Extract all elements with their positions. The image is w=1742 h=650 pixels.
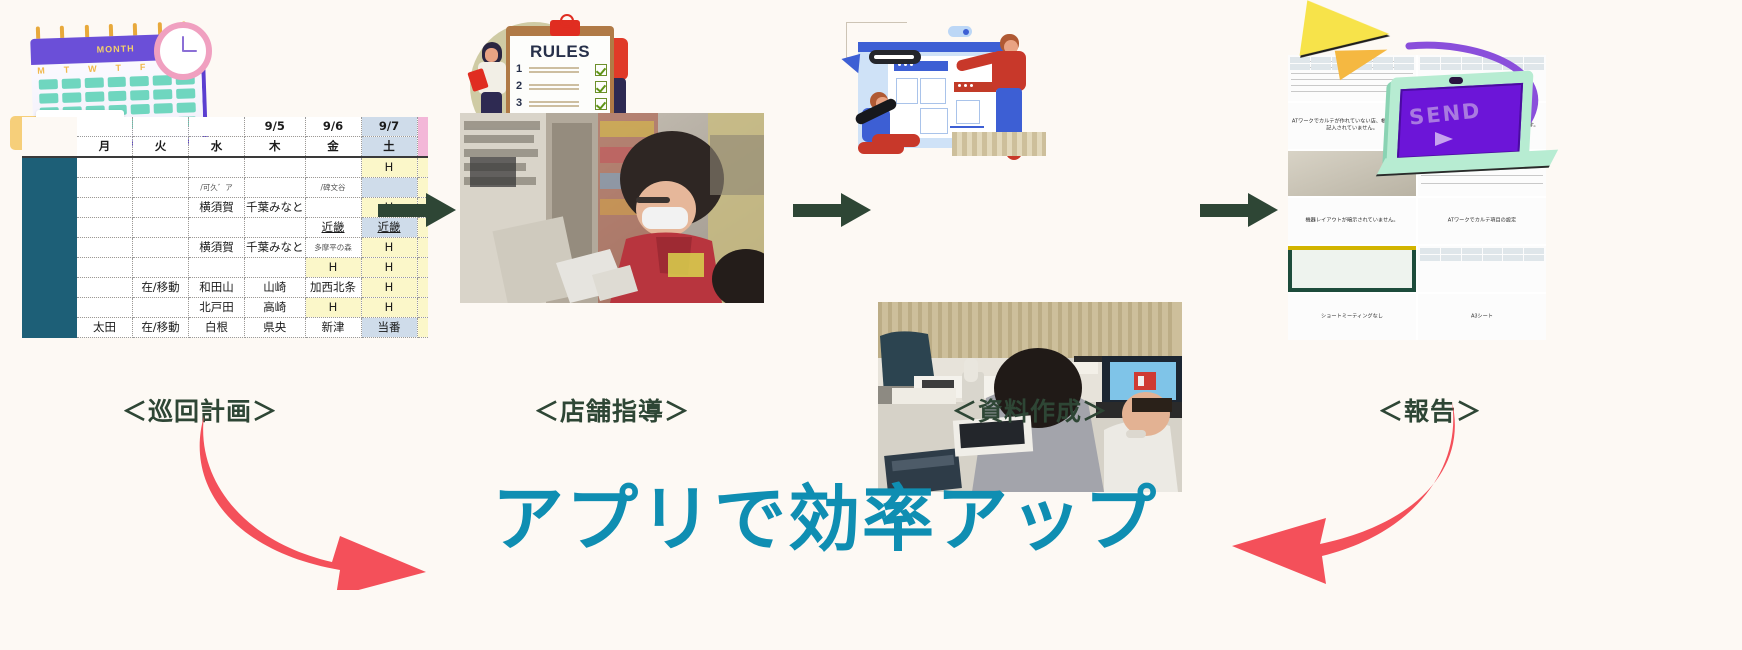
schedule-cell — [245, 178, 306, 198]
table-row: 在/移動 和田山 山崎 加西北条 H — [22, 278, 428, 298]
schedule-cell: 新津 — [305, 318, 361, 338]
loop-arrow-right — [1180, 398, 1470, 588]
step-label-3: ＜資料作成＞ — [870, 392, 1190, 428]
table-row-weekdays: 月 火 水 木 金 土 — [22, 137, 428, 158]
schedule-cell: 近畿 — [305, 218, 361, 238]
schedule-table: 9/5 9/6 9/7 月 火 水 木 金 土 — [22, 117, 428, 338]
wall-texture — [952, 132, 1046, 156]
schedule-cell — [77, 278, 133, 298]
weekday-cell: 土 — [361, 137, 417, 158]
collage-note: ATワークでカルテ項目の設定 — [1418, 218, 1546, 225]
calendar-day-initial: M — [37, 66, 45, 76]
table-row: 横須賀 千葉みなと H — [22, 198, 428, 218]
calendar-day-initial: T — [64, 65, 70, 75]
infographic-canvas: MONTH M T W T F S S — [0, 0, 1742, 650]
rules-list-item: 1 — [516, 64, 608, 77]
table-row: H — [22, 157, 428, 178]
schedule-cell — [133, 298, 189, 318]
schedule-cell — [77, 258, 133, 278]
schedule-cell: H — [361, 258, 417, 278]
schedule-cell: 県央 — [245, 318, 306, 338]
schedule-cell: H — [361, 238, 417, 258]
date-cell — [189, 117, 245, 137]
schedule-cell: 在/移動 — [133, 278, 189, 298]
schedule-cell — [133, 198, 189, 218]
table-row-dates: 9/5 9/6 9/7 — [22, 117, 428, 137]
schedule-cell: /可久゛ア — [189, 178, 245, 198]
schedule-cell — [245, 258, 306, 278]
schedule-cell: H — [305, 298, 361, 318]
calendar-day-initial: T — [115, 63, 121, 73]
send-arrow-icon — [1435, 132, 1453, 146]
search-bar-icon — [869, 50, 921, 64]
store-guidance-photo — [460, 113, 764, 303]
schedule-cell: /碑文谷 — [305, 178, 361, 198]
flow-arrow-2 — [793, 193, 871, 227]
loop-arrow-left — [190, 410, 460, 590]
person-sitting — [848, 92, 924, 156]
schedule-cell: 北戸田 — [189, 298, 245, 318]
date-cell: 9/6 — [305, 117, 361, 137]
calendar-day-initial: W — [88, 64, 97, 74]
send-laptop-paperplane-illustration: SEND — [1295, 2, 1565, 182]
schedule-cell — [133, 238, 189, 258]
schedule-cell — [77, 298, 133, 318]
clip-icon — [550, 20, 580, 36]
table-row: 近畿 近畿 — [22, 218, 428, 238]
step-label-2: ＜店舗指導＞ — [452, 392, 772, 428]
headline-text: アプリで効率アップ — [492, 460, 1158, 565]
table-row: 太田 在/移動 白根 県央 新津 当番 — [22, 318, 428, 338]
rules-item-number: 3 — [516, 97, 522, 109]
schedule-cell — [133, 157, 189, 178]
collage-cell — [1288, 246, 1416, 292]
weekday-cell: 月 — [77, 137, 133, 158]
collage-note: A3シート — [1418, 313, 1546, 320]
table-row: H H — [22, 258, 428, 278]
schedule-cell: 横須賀 — [189, 198, 245, 218]
schedule-cell: 横須賀 — [189, 238, 245, 258]
store-guidance-photo-content — [460, 113, 764, 303]
schedule-cell — [189, 218, 245, 238]
schedule-cell — [77, 238, 133, 258]
schedule-cell — [305, 157, 361, 178]
schedule-cell: 当番 — [361, 318, 417, 338]
rules-list-item: 2 — [516, 81, 608, 94]
schedule-cell: 高崎 — [245, 298, 306, 318]
schedule-table-screenshot: 9/5 9/6 9/7 月 火 水 木 金 土 — [22, 117, 428, 338]
check-icon — [595, 64, 607, 76]
date-cell — [77, 117, 133, 137]
schedule-cell: H — [305, 258, 361, 278]
schedule-cell: 加西北条 — [305, 278, 361, 298]
schedule-cell: 在/移動 — [133, 318, 189, 338]
schedule-cell — [245, 157, 306, 178]
schedule-cell — [77, 218, 133, 238]
laptop-send-graphic: SEND — [1383, 74, 1553, 182]
toggle-icon — [948, 26, 972, 37]
schedule-cell: H — [361, 157, 417, 178]
schedule-cell — [189, 157, 245, 178]
schedule-cell — [133, 178, 189, 198]
check-icon — [595, 81, 607, 93]
flow-arrow-3 — [1200, 193, 1278, 227]
schedule-cell: 多摩平の森 — [305, 238, 361, 258]
schedule-cell: 山崎 — [245, 278, 306, 298]
schedule-cell: H — [361, 278, 417, 298]
schedule-cell — [133, 218, 189, 238]
collage-cell: ショートミーティングなし — [1288, 294, 1416, 340]
schedule-cell: 千葉みなと — [245, 198, 306, 218]
rules-item-number: 1 — [516, 63, 522, 75]
weekday-cell: 水 — [189, 137, 245, 158]
flow-arrow-1 — [378, 193, 456, 227]
weekday-cell: 火 — [133, 137, 189, 158]
schedule-cell: 和田山 — [189, 278, 245, 298]
schedule-cell: H — [361, 298, 417, 318]
date-cell — [133, 117, 189, 137]
collage-cell: ATワークでカルテ項目の設定 — [1418, 198, 1546, 244]
collage-note: 機器レイアウトが暗示されていません。 — [1288, 218, 1416, 225]
collage-cell — [1418, 246, 1546, 292]
rules-title: RULES — [510, 42, 610, 62]
schedule-cell — [245, 218, 306, 238]
table-row: 横須賀 千葉みなと 多摩平の森 H — [22, 238, 428, 258]
schedule-cell: 白根 — [189, 318, 245, 338]
check-icon — [595, 98, 607, 110]
table-row: /可久゛ア /碑文谷 — [22, 178, 428, 198]
date-cell: 9/5 — [245, 117, 306, 137]
schedule-cell: 太田 — [77, 318, 133, 338]
collage-cell: A3シート — [1418, 294, 1546, 340]
schedule-cell — [77, 198, 133, 218]
schedule-cell: 千葉みなと — [245, 238, 306, 258]
presentation-people-illustration — [836, 4, 1046, 156]
clock-icon — [154, 22, 212, 80]
collage-cell: 機器レイアウトが暗示されていません。 — [1288, 198, 1416, 244]
schedule-cell — [305, 198, 361, 218]
schedule-cell — [77, 157, 133, 178]
schedule-cell — [77, 178, 133, 198]
rules-list-item: 3 — [516, 98, 608, 111]
schedule-cell — [133, 258, 189, 278]
date-cell: 9/7 — [361, 117, 417, 137]
weekday-cell: 木 — [245, 137, 306, 158]
rules-item-number: 2 — [516, 80, 522, 92]
collage-note: ショートミーティングなし — [1288, 313, 1416, 320]
schedule-cell — [189, 258, 245, 278]
weekday-cell: 金 — [305, 137, 361, 158]
calendar-day-initial: F — [140, 62, 146, 72]
table-row: 北戸田 高崎 H H — [22, 298, 428, 318]
